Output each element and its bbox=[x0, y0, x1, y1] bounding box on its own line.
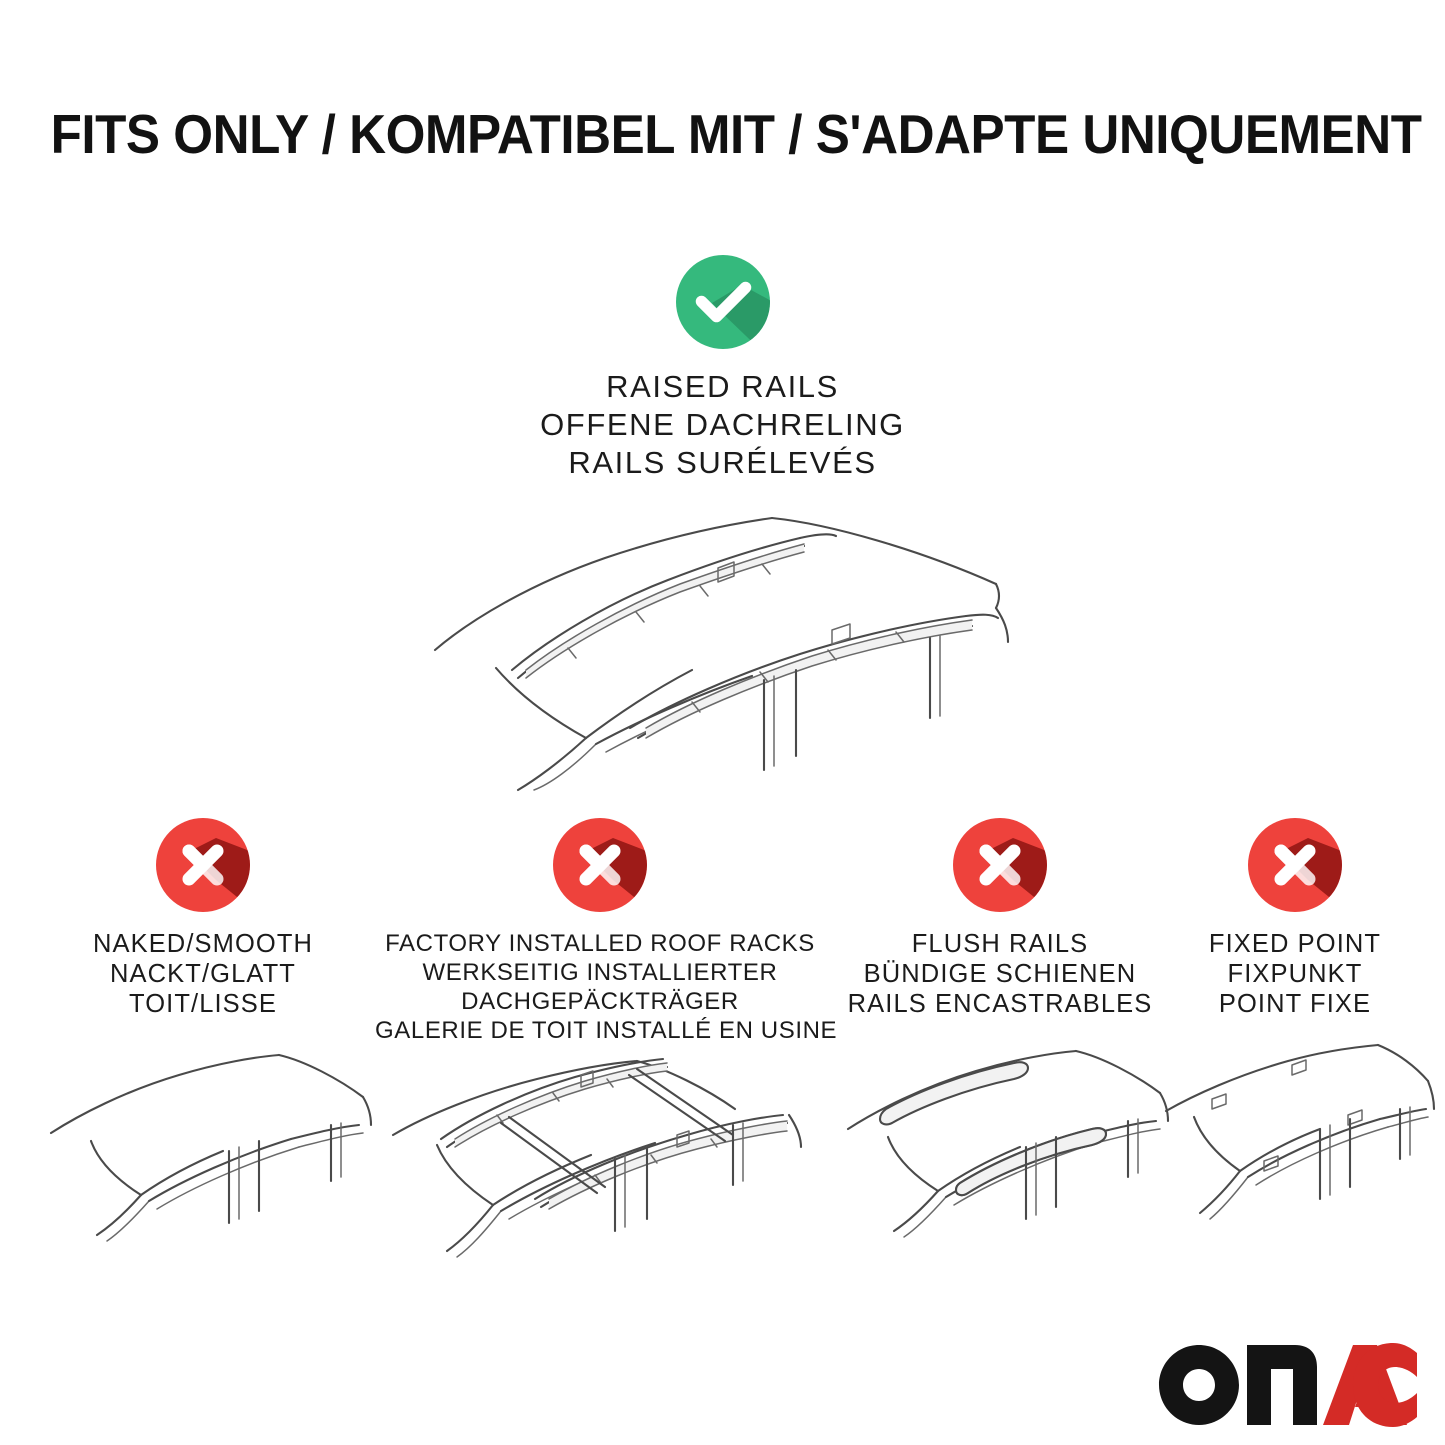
compatible-label: RAISED RAILS OFFENE DACHRELING RAILS SUR… bbox=[0, 368, 1445, 482]
logo-letter-m bbox=[1247, 1345, 1317, 1425]
incompatible-label-naked-smooth: NAKED/SMOOTH NACKT/GLATT TOIT/LISSE bbox=[33, 929, 373, 1019]
logo-letter-o bbox=[1159, 1345, 1239, 1425]
car-roof-factory-roof-racks-illustration bbox=[375, 1053, 825, 1283]
label-line-3: DACHGEPÄCKTRÄGER bbox=[375, 987, 825, 1016]
compatible-label-line-3: RAILS SURÉLEVÉS bbox=[0, 444, 1445, 482]
x-glyph bbox=[1248, 818, 1342, 912]
x-circle-icon bbox=[553, 818, 647, 912]
car-roof-fixed-point-illustration bbox=[1160, 1037, 1430, 1267]
incompatible-label-factory-roof-racks: FACTORY INSTALLED ROOF RACKS WERKSEITIG … bbox=[375, 929, 825, 1045]
label-line-3: RAILS ENCASTRABLES bbox=[830, 989, 1170, 1019]
incompatible-label-flush-rails: FLUSH RAILS BÜNDIGE SCHIENEN RAILS ENCAS… bbox=[830, 929, 1170, 1019]
compatible-label-line-1: RAISED RAILS bbox=[0, 368, 1445, 406]
x-circle-icon bbox=[156, 818, 250, 912]
car-roof-flush-rails-illustration bbox=[830, 1037, 1170, 1267]
car-roof-with-raised-rails-illustration bbox=[400, 480, 1040, 790]
compatible-section: RAISED RAILS OFFENE DACHRELING RAILS SUR… bbox=[0, 255, 1445, 482]
label-line-2: FIXPUNKT bbox=[1160, 959, 1430, 989]
incompatible-item-flush-rails: FLUSH RAILS BÜNDIGE SCHIENEN RAILS ENCAS… bbox=[830, 818, 1170, 1267]
incompatible-item-fixed-point: FIXED POINT FIXPUNKT POINT FIXE bbox=[1160, 818, 1430, 1267]
label-line-2: WERKSEITIG INSTALLIERTER bbox=[375, 958, 825, 987]
label-line-1: FIXED POINT bbox=[1160, 929, 1430, 959]
x-glyph bbox=[953, 818, 1047, 912]
label-line-1: FACTORY INSTALLED ROOF RACKS bbox=[375, 929, 825, 958]
page-title: FITS ONLY / KOMPATIBEL MIT / S'ADAPTE UN… bbox=[51, 102, 1395, 166]
check-circle-icon bbox=[676, 255, 770, 349]
incompatible-label-fixed-point: FIXED POINT FIXPUNKT POINT FIXE bbox=[1160, 929, 1430, 1019]
check-glyph bbox=[676, 255, 770, 349]
x-glyph bbox=[553, 818, 647, 912]
compatible-label-line-2: OFFENE DACHRELING bbox=[0, 406, 1445, 444]
omac-logo bbox=[1153, 1339, 1423, 1431]
x-circle-icon bbox=[1248, 818, 1342, 912]
car-roof-naked-smooth-illustration bbox=[33, 1041, 373, 1271]
label-line-1: NAKED/SMOOTH bbox=[33, 929, 373, 959]
incompatible-section: NAKED/SMOOTH NACKT/GLATT TOIT/LISSE bbox=[0, 818, 1445, 1288]
x-circle-icon bbox=[953, 818, 1047, 912]
incompatible-item-naked-smooth: NAKED/SMOOTH NACKT/GLATT TOIT/LISSE bbox=[33, 818, 373, 1271]
label-line-3: TOIT/LISSE bbox=[33, 989, 373, 1019]
label-line-4: GALERIE DE TOIT INSTALLÉ EN USINE bbox=[375, 1016, 825, 1045]
label-line-2: NACKT/GLATT bbox=[33, 959, 373, 989]
omac-logo-mark bbox=[1153, 1339, 1423, 1431]
incompatible-item-factory-roof-racks: FACTORY INSTALLED ROOF RACKS WERKSEITIG … bbox=[375, 818, 825, 1283]
label-line-3: POINT FIXE bbox=[1160, 989, 1430, 1019]
fitment-compatibility-graphic: FITS ONLY / KOMPATIBEL MIT / S'ADAPTE UN… bbox=[0, 0, 1445, 1445]
label-line-2: BÜNDIGE SCHIENEN bbox=[830, 959, 1170, 989]
x-glyph bbox=[156, 818, 250, 912]
label-line-1: FLUSH RAILS bbox=[830, 929, 1170, 959]
